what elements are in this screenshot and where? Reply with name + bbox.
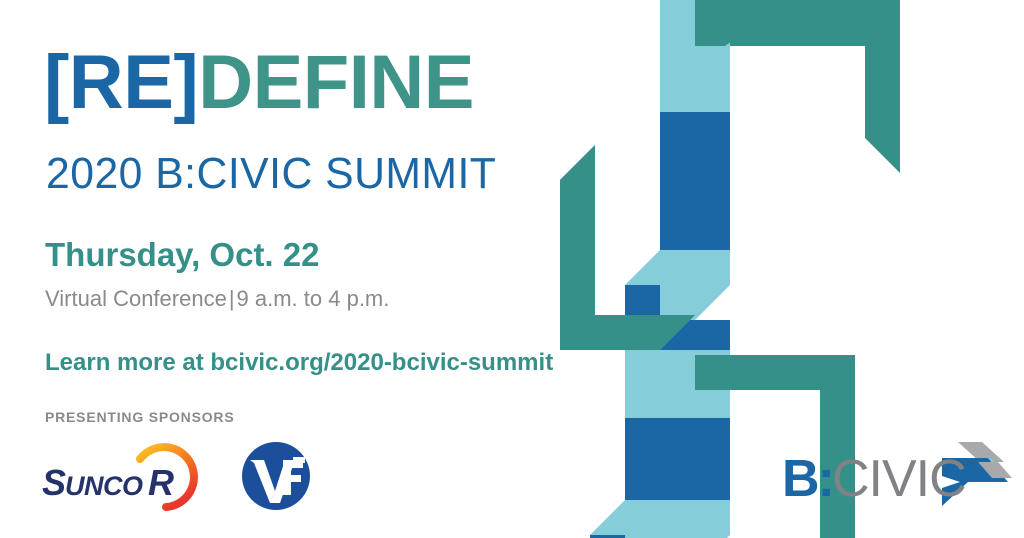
lightblue-diagonal-band	[625, 250, 730, 320]
bcivic-logo: B: CIVIC	[782, 440, 1014, 512]
teal-bracket-arm	[865, 40, 900, 173]
event-subtitle: 2020 B:CIVIC SUMMIT	[46, 152, 496, 196]
teal-bracket-shape	[560, 315, 695, 350]
suncor-logo: S UNCO R	[40, 437, 215, 515]
details-separator: |	[227, 286, 237, 311]
bcivic-prefix: B:	[782, 450, 833, 508]
teal-bracket-shape	[685, 0, 865, 46]
teal-diagonal-wedge	[695, 0, 790, 46]
lightblue-column	[625, 350, 730, 424]
bcivic-wordmark: CIVIC	[832, 450, 966, 508]
teal-bracket-shape	[865, 46, 900, 115]
presenting-sponsors-label: PRESENTING SPONSORS	[45, 410, 234, 424]
teal-bracket-tip	[695, 355, 765, 390]
promotional-poster: [RE]DEFINE 2020 B:CIVIC SUMMIT Thursday,…	[0, 0, 1024, 538]
lightblue-segment	[660, 46, 730, 112]
teal-bracket-shape	[830, 0, 900, 46]
lightblue-column	[625, 424, 730, 530]
headline-bracket-word: [RE]	[44, 40, 198, 125]
poster-content: [RE]DEFINE 2020 B:CIVIC SUMMIT Thursday,…	[0, 0, 560, 538]
learn-more-link[interactable]: Learn more at bcivic.org/2020-bcivic-sum…	[45, 351, 553, 375]
event-format: Virtual Conference	[45, 286, 227, 311]
svg-text:R: R	[148, 462, 174, 503]
teal-bracket-tip	[685, 0, 720, 46]
teal-bracket-tip	[660, 315, 695, 350]
blue-block	[625, 418, 730, 500]
blue-block-diagonal	[660, 250, 730, 285]
event-date: Thursday, Oct. 22	[45, 238, 319, 271]
teal-bracket-shape	[560, 145, 595, 350]
suncor-wordmark: S	[42, 462, 66, 503]
blue-block	[625, 285, 660, 320]
blue-block	[625, 418, 730, 530]
teal-bracket-shape	[560, 145, 595, 180]
lightblue-segment	[660, 0, 730, 46]
svg-text:UNCO: UNCO	[65, 471, 143, 501]
page-title: [RE]DEFINE	[44, 45, 474, 121]
teal-bracket-shape	[865, 0, 900, 115]
sponsor-logos: S UNCO R	[40, 437, 315, 515]
blue-block	[625, 320, 730, 424]
lightblue-segment	[660, 0, 730, 46]
event-details: Virtual Conference|9 a.m. to 4 p.m.	[45, 288, 389, 310]
vf-logo	[237, 437, 315, 515]
lightblue-diagonal-band	[590, 500, 730, 538]
teal-bracket-shape	[695, 355, 855, 390]
event-time: 9 a.m. to 4 p.m.	[237, 286, 390, 311]
blue-block-diagonal	[695, 250, 730, 285]
blue-block	[660, 112, 730, 250]
headline-rest: DEFINE	[198, 40, 474, 125]
blue-block-notch	[625, 285, 660, 320]
lightblue-diagonal-band	[625, 285, 695, 320]
